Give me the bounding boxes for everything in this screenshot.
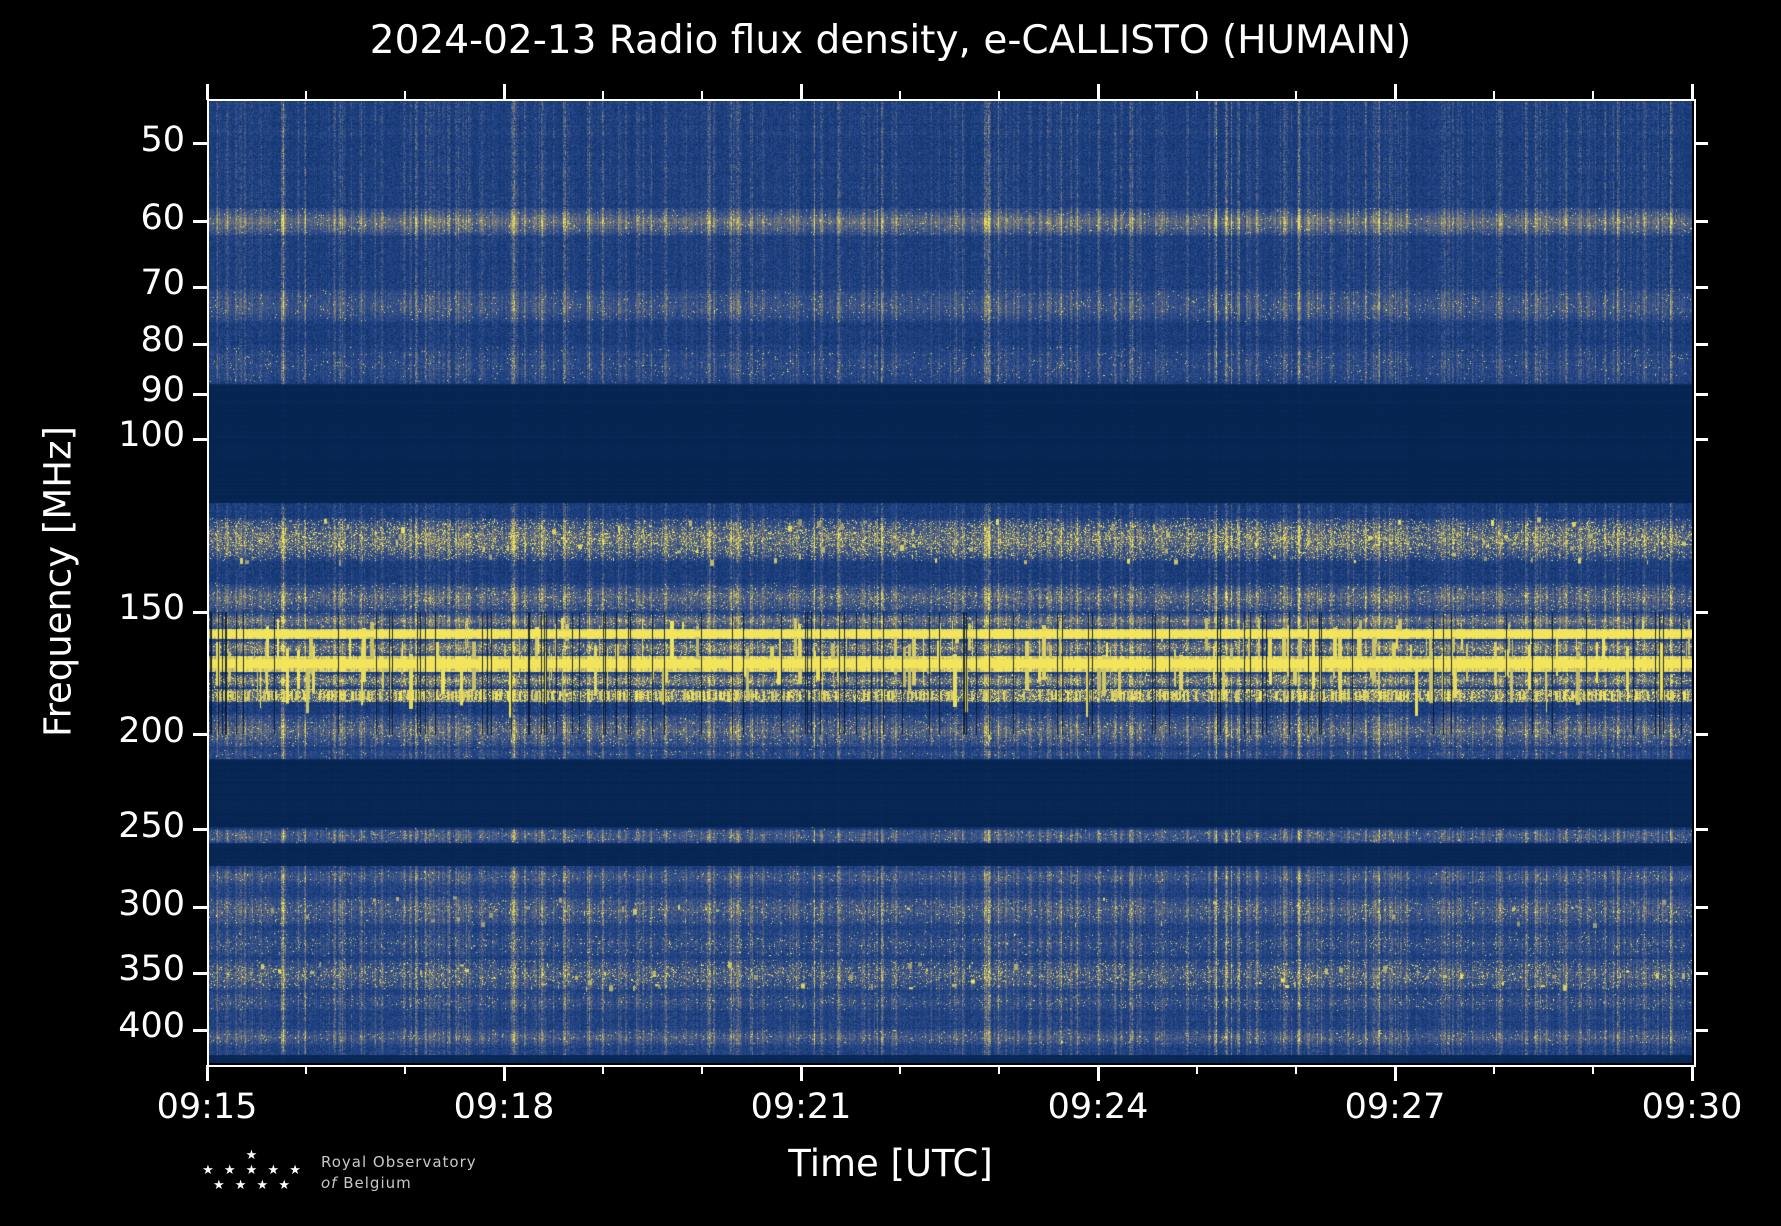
x-tick-major-6 — [800, 1065, 803, 1081]
stars-row-2: ★ ★ ★ ★ ★ — [193, 1163, 313, 1178]
y-tick-major-150 — [193, 611, 207, 614]
y-tick-major-right-400 — [1694, 1029, 1708, 1032]
x-tick-minor-10 — [1196, 1065, 1198, 1074]
y-tick-major-200 — [193, 733, 207, 736]
x-tick-minor-11 — [1295, 1065, 1297, 1074]
y-tick-major-50 — [193, 142, 207, 145]
y-tick-label-50: 50 — [140, 123, 185, 158]
y-tick-major-right-100 — [1694, 438, 1708, 441]
y-tick-major-350 — [193, 972, 207, 975]
x-tick-minor-14 — [1592, 1065, 1594, 1074]
x-tick-major-12 — [1394, 1065, 1397, 1081]
spectrogram-canvas — [207, 99, 1692, 1063]
x-tick-label-0: 09:15 — [157, 1087, 258, 1127]
x-tick-minor-5 — [701, 1065, 703, 1074]
spectrogram-plot-area — [207, 99, 1692, 1063]
x-tick-top-major-3 — [503, 84, 506, 100]
y-tick-label-150: 150 — [118, 591, 185, 626]
y-tick-label-250: 250 — [118, 809, 185, 844]
x-tick-top-minor-7 — [899, 91, 901, 100]
x-tick-top-minor-2 — [404, 91, 406, 100]
x-tick-label-3: 09:18 — [454, 1087, 555, 1127]
y-tick-major-90 — [193, 393, 207, 396]
y-tick-label-60: 60 — [140, 201, 185, 236]
x-tick-minor-4 — [602, 1065, 604, 1074]
logo-of: of — [321, 1174, 337, 1192]
x-tick-label-12: 09:27 — [1345, 1087, 1446, 1127]
logo-line-2: of Belgium — [321, 1173, 477, 1194]
y-tick-major-250 — [193, 828, 207, 831]
x-tick-major-15 — [1691, 1065, 1694, 1081]
x-tick-major-3 — [503, 1065, 506, 1081]
x-tick-label-6: 09:21 — [751, 1087, 852, 1127]
stars-row-3: ★ ★ ★ ★ — [193, 1178, 313, 1193]
y-tick-label-200: 200 — [118, 714, 185, 749]
y-tick-label-70: 70 — [140, 266, 185, 301]
x-tick-top-minor-11 — [1295, 91, 1297, 100]
x-tick-top-minor-8 — [998, 91, 1000, 100]
x-tick-top-minor-4 — [602, 91, 604, 100]
stars-row-1: ★ — [193, 1148, 313, 1163]
y-tick-major-400 — [193, 1029, 207, 1032]
y-tick-label-300: 300 — [118, 887, 185, 922]
y-tick-label-350: 350 — [118, 952, 185, 987]
y-tick-major-right-250 — [1694, 828, 1708, 831]
y-tick-major-right-70 — [1694, 286, 1708, 289]
x-tick-top-minor-14 — [1592, 91, 1594, 100]
x-tick-top-major-0 — [206, 84, 209, 100]
logo-belgium: Belgium — [343, 1174, 412, 1192]
y-tick-major-right-150 — [1694, 611, 1708, 614]
y-tick-major-300 — [193, 906, 207, 909]
x-tick-top-minor-13 — [1493, 91, 1495, 100]
x-tick-top-major-6 — [800, 84, 803, 100]
logo-text: Royal Observatory of Belgium — [321, 1152, 477, 1194]
y-tick-major-right-300 — [1694, 906, 1708, 909]
x-tick-top-minor-5 — [701, 91, 703, 100]
x-tick-major-0 — [206, 1065, 209, 1081]
y-tick-major-right-50 — [1694, 142, 1708, 145]
x-tick-minor-8 — [998, 1065, 1000, 1074]
y-tick-major-right-350 — [1694, 972, 1708, 975]
y-tick-major-70 — [193, 286, 207, 289]
y-tick-major-100 — [193, 438, 207, 441]
logo-line-1: Royal Observatory — [321, 1152, 477, 1173]
x-tick-major-9 — [1097, 1065, 1100, 1081]
x-tick-top-minor-10 — [1196, 91, 1198, 100]
y-tick-major-right-200 — [1694, 733, 1708, 736]
x-tick-minor-1 — [305, 1065, 307, 1074]
y-tick-major-60 — [193, 220, 207, 223]
y-tick-label-80: 80 — [140, 323, 185, 358]
x-tick-top-major-9 — [1097, 84, 1100, 100]
x-tick-top-minor-1 — [305, 91, 307, 100]
y-tick-major-right-80 — [1694, 343, 1708, 346]
spectrogram-figure: 2024-02-13 Radio flux density, e-CALLIST… — [0, 0, 1781, 1226]
y-tick-major-80 — [193, 343, 207, 346]
stars-icon: ★ ★ ★ ★ ★ ★ ★ ★ ★ ★ — [193, 1148, 313, 1208]
y-axis-label: Frequency [MHz] — [37, 392, 80, 772]
x-tick-minor-13 — [1493, 1065, 1495, 1074]
y-tick-label-90: 90 — [140, 373, 185, 408]
y-tick-label-100: 100 — [118, 418, 185, 453]
x-tick-label-15: 09:30 — [1642, 1087, 1743, 1127]
page-title: 2024-02-13 Radio flux density, e-CALLIST… — [0, 18, 1781, 63]
y-tick-major-right-60 — [1694, 220, 1708, 223]
x-tick-minor-2 — [404, 1065, 406, 1074]
x-tick-top-major-15 — [1691, 84, 1694, 100]
y-tick-label-400: 400 — [118, 1009, 185, 1044]
x-tick-label-9: 09:24 — [1048, 1087, 1149, 1127]
x-tick-minor-7 — [899, 1065, 901, 1074]
x-tick-top-major-12 — [1394, 84, 1397, 100]
royal-observatory-logo: ★ ★ ★ ★ ★ ★ ★ ★ ★ ★ Royal Observatory of… — [193, 1148, 613, 1210]
y-tick-major-right-90 — [1694, 393, 1708, 396]
